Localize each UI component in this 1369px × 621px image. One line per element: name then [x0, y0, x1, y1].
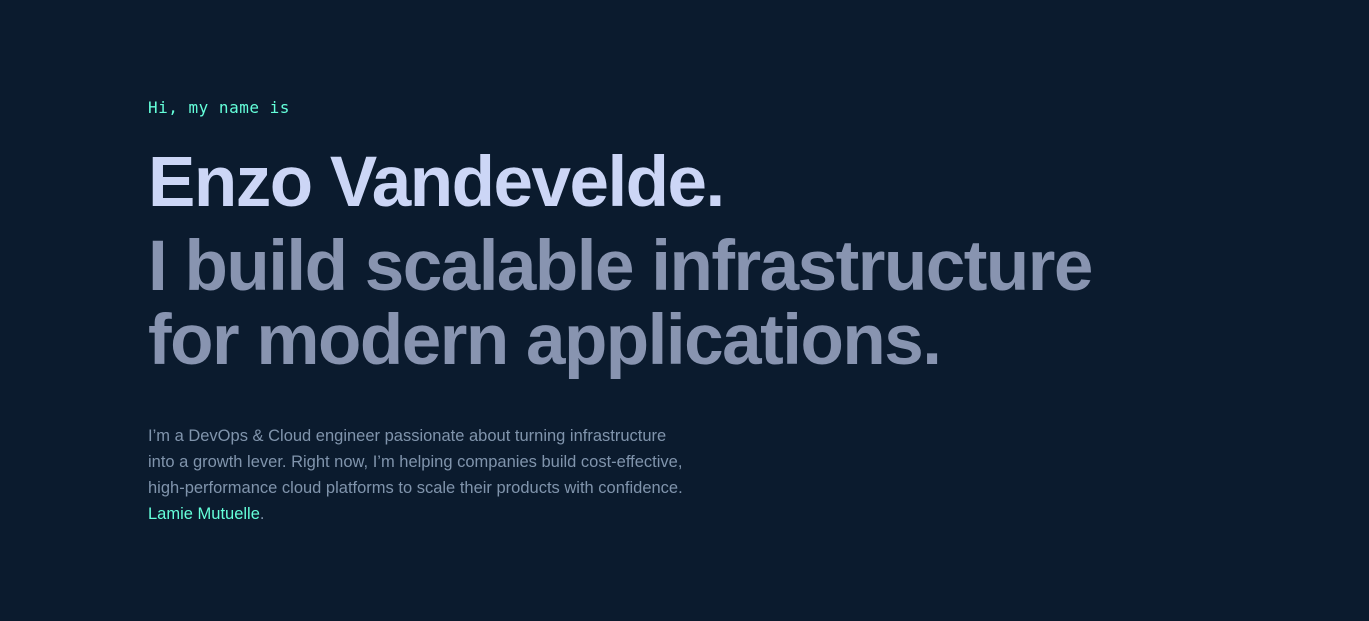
hero-tagline-line-1: I build scalable infrastructure [148, 230, 1148, 305]
description-text-after-link: . [260, 505, 265, 523]
hero-tagline-line-2: for modern applications. [148, 304, 1148, 379]
hero-section: Hi, my name is Enzo Vandevelde. I build … [0, 0, 1369, 621]
hero-description: I’m a DevOps & Cloud engineer passionate… [148, 423, 684, 527]
page-title: Enzo Vandevelde. [148, 146, 1248, 221]
description-text-before-link: I’m a DevOps & Cloud engineer passionate… [148, 427, 683, 497]
hero-greeting: Hi, my name is [148, 100, 1248, 116]
hero-content: Hi, my name is Enzo Vandevelde. I build … [148, 100, 1248, 527]
lamie-mutuelle-link[interactable]: Lamie Mutuelle [148, 505, 260, 523]
hero-tagline: I build scalable infrastructure for mode… [148, 230, 1148, 379]
